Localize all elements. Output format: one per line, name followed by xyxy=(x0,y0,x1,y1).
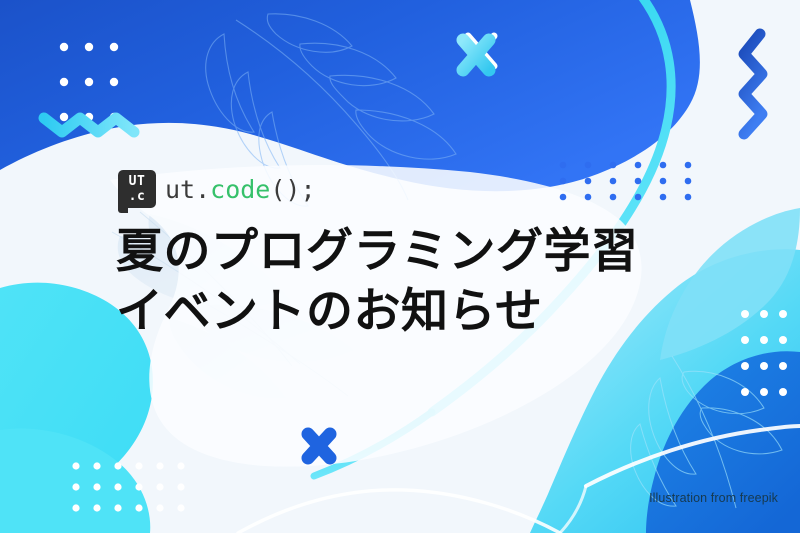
brand-wordmark: ut.code(); xyxy=(165,177,316,202)
headline-line-1: 夏のプログラミング学習 xyxy=(116,222,639,282)
logo-letters: UT .c xyxy=(118,170,156,208)
logo-letters-top: UT xyxy=(129,175,146,188)
illustration-credit: Illustration from freepik xyxy=(649,491,778,505)
wordmark-suffix: (); xyxy=(270,175,315,204)
wordmark-prefix: ut. xyxy=(165,175,210,204)
poster-canvas: UT .c ut.code(); 夏のプログラミング学習 イベントのお知らせ I… xyxy=(0,0,800,533)
utcode-logo-icon: UT .c xyxy=(118,170,156,208)
headline-line-2: イベントのお知らせ xyxy=(116,282,639,342)
blue-x-icon xyxy=(308,434,330,458)
brand-lockup: UT .c ut.code(); xyxy=(118,170,316,208)
wordmark-accent: code xyxy=(210,175,270,204)
logo-letters-bottom: .c xyxy=(129,190,146,203)
page-title: 夏のプログラミング学習 イベントのお知らせ xyxy=(116,222,639,341)
